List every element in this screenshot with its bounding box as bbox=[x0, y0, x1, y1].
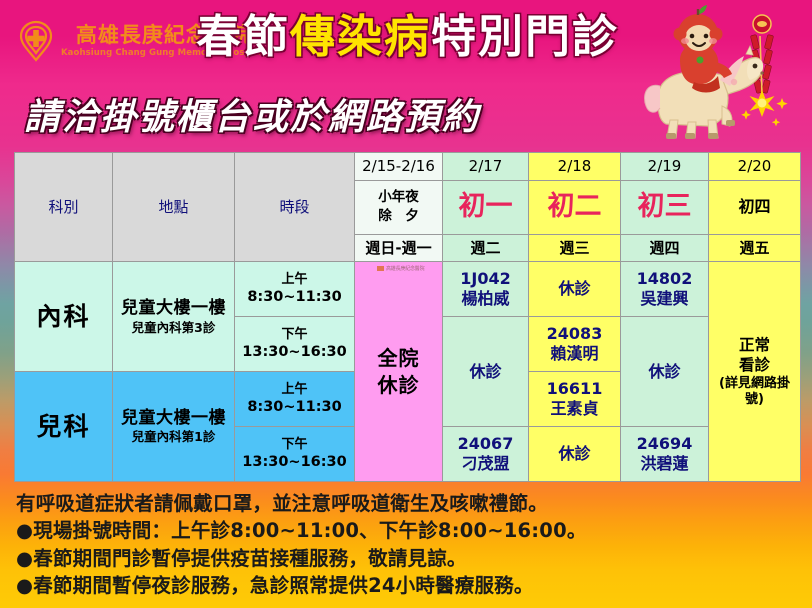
doctor-name: 刁茂盟 bbox=[445, 454, 526, 474]
closed-all-cell: 高雄長庚紀念醫院 全院 休診 bbox=[355, 262, 443, 482]
page-header: 高雄長庚紀念醫院 Kaohsiung Chang Gung Memorial H… bbox=[0, 0, 812, 145]
timeslot-time-internal-pm: 13:30~16:30 bbox=[237, 343, 352, 361]
doctor-id: 24083 bbox=[531, 324, 618, 344]
doctor-id: 24067 bbox=[445, 434, 526, 454]
timeslot-period-internal-am: 上午 bbox=[237, 272, 352, 288]
table-row: 內科 兒童大樓一樓 兒童內科第3診 上午 8:30~11:30 高雄長庚紀念醫院… bbox=[15, 262, 801, 317]
lunar-eve-line2: 除 夕 bbox=[357, 207, 440, 227]
timeslot-period-pediatrics-pm: 下午 bbox=[237, 437, 352, 453]
lunar-header-2: 初二 bbox=[529, 180, 621, 234]
closed-all-line2: 休診 bbox=[357, 372, 440, 399]
table-header-row-dates: 科別 地點 時段 2/15-2/16 2/17 2/18 2/19 2/20 bbox=[15, 153, 801, 181]
lunar-label-3: 初三 bbox=[638, 191, 692, 222]
hospital-watermark-icon: 高雄長庚紀念醫院 bbox=[377, 266, 424, 272]
timeslot-cell-pediatrics-pm: 下午 13:30~16:30 bbox=[235, 427, 355, 482]
timeslot-time-internal-am: 8:30~11:30 bbox=[237, 288, 352, 306]
dept-name-internal: 內科 bbox=[36, 302, 90, 331]
location-main-internal: 兒童大樓一樓 bbox=[115, 298, 232, 319]
lunar-header-1: 初一 bbox=[443, 180, 529, 234]
date-header-3: 2/19 bbox=[621, 153, 709, 181]
location-cell-pediatrics: 兒童大樓一樓 兒童內科第1診 bbox=[113, 372, 235, 482]
closed-all-line1: 全院 bbox=[357, 345, 440, 372]
location-main-pediatrics: 兒童大樓一樓 bbox=[115, 408, 232, 429]
page-subtitle: 請洽掛號櫃台或於網路預約 bbox=[24, 88, 480, 140]
title-highlight: 傳染病 bbox=[290, 10, 431, 63]
cell-217-merged-closed: 休診 bbox=[443, 317, 529, 427]
lunar-eve-line1: 小年夜 bbox=[357, 188, 440, 208]
doctor-name: 賴漢明 bbox=[531, 344, 618, 364]
timeslot-period-pediatrics-am: 上午 bbox=[237, 382, 352, 398]
note-line-1: ●現場掛號時間：上午診8:00~11:00、下午診8:00~16:00。 bbox=[16, 517, 806, 544]
title-part-2: 特別門診 bbox=[431, 10, 619, 63]
weekday-label-4: 週五 bbox=[739, 239, 769, 257]
cross-flower-logo-icon bbox=[16, 19, 56, 63]
cell-219-pediatrics-pm: 24694 洪碧蓮 bbox=[621, 427, 709, 482]
dept-cell-internal: 內科 bbox=[15, 262, 113, 372]
title-part-1: 春節 bbox=[196, 10, 290, 63]
cell-218-pediatrics-pm: 休診 bbox=[529, 427, 621, 482]
normal-line1: 正常 bbox=[711, 335, 798, 355]
date-label-0: 2/15-2/16 bbox=[362, 157, 435, 175]
closed-label: 休診 bbox=[558, 279, 590, 298]
doctor-id: 16611 bbox=[531, 379, 618, 399]
cell-217-pediatrics-pm: 24067 刁茂盟 bbox=[443, 427, 529, 482]
date-label-2: 2/18 bbox=[558, 157, 592, 175]
weekday-header-1: 週二 bbox=[443, 234, 529, 262]
date-header-0: 2/15-2/16 bbox=[355, 153, 443, 181]
timeslot-time-pediatrics-pm: 13:30~16:30 bbox=[237, 453, 352, 471]
cell-217-internal-am: 1J042 楊柏威 bbox=[443, 262, 529, 317]
location-sub-internal: 兒童內科第3診 bbox=[115, 320, 232, 336]
lunar-header-0: 小年夜 除 夕 bbox=[355, 180, 443, 234]
normal-line3: (詳見網路掛號) bbox=[711, 376, 798, 409]
closed-label: 休診 bbox=[648, 362, 680, 381]
location-sub-pediatrics: 兒童內科第1診 bbox=[115, 429, 232, 445]
col-header-timeslot: 時段 bbox=[235, 153, 355, 262]
normal-line2: 看診 bbox=[711, 355, 798, 375]
timeslot-cell-internal-pm: 下午 13:30~16:30 bbox=[235, 317, 355, 372]
timeslot-cell-internal-am: 上午 8:30~11:30 bbox=[235, 262, 355, 317]
doctor-name: 洪碧蓮 bbox=[623, 454, 706, 474]
cell-220-normal: 正常 看診 (詳見網路掛號) bbox=[709, 262, 801, 482]
cell-218-internal-pm: 24083 賴漢明 bbox=[529, 317, 621, 372]
lunar-label-1: 初一 bbox=[459, 191, 513, 222]
closed-label: 休診 bbox=[469, 362, 501, 381]
cell-219-internal-am: 14802 吳建興 bbox=[621, 262, 709, 317]
note-line-2: ●春節期間門診暫停提供疫苗接種服務，敬請見諒。 bbox=[16, 545, 806, 572]
location-cell-internal: 兒童大樓一樓 兒童內科第3診 bbox=[113, 262, 235, 372]
cell-219-merged-closed: 休診 bbox=[621, 317, 709, 427]
col-header-dept-label: 科別 bbox=[48, 198, 78, 216]
lunar-header-3: 初三 bbox=[621, 180, 709, 234]
note-line-0: 有呼吸道症狀者請佩戴口罩，並注意呼吸道衛生及咳嗽禮節。 bbox=[16, 490, 806, 517]
weekday-label-2: 週三 bbox=[559, 239, 589, 257]
monkey-riding-horse-mascot-icon bbox=[636, 2, 806, 142]
hospital-watermark-text: 高雄長庚紀念醫院 bbox=[386, 266, 424, 272]
doctor-name: 吳建興 bbox=[623, 289, 706, 309]
weekday-label-3: 週四 bbox=[649, 239, 679, 257]
page-title: 春節傳染病特別門診 bbox=[196, 13, 619, 62]
doctor-id: 14802 bbox=[623, 269, 706, 289]
doctor-name: 王素貞 bbox=[531, 399, 618, 419]
doctor-id: 1J042 bbox=[445, 269, 526, 289]
doctor-name: 楊柏威 bbox=[445, 289, 526, 309]
weekday-header-0: 週日-週一 bbox=[355, 234, 443, 262]
hospital-logo: 高雄長庚紀念醫院 Kaohsiung Chang Gung Memorial H… bbox=[16, 10, 192, 72]
col-header-dept: 科別 bbox=[15, 153, 113, 262]
date-header-4: 2/20 bbox=[709, 153, 801, 181]
note-line-3: ●春節期間暫停夜診服務，急診照常提供24小時醫療服務。 bbox=[16, 572, 806, 599]
weekday-header-2: 週三 bbox=[529, 234, 621, 262]
closed-label: 休診 bbox=[558, 444, 590, 463]
date-header-1: 2/17 bbox=[443, 153, 529, 181]
doctor-id: 24694 bbox=[623, 434, 706, 454]
clinic-schedule-table: 科別 地點 時段 2/15-2/16 2/17 2/18 2/19 2/20 小… bbox=[14, 152, 801, 482]
dept-cell-pediatrics: 兒科 bbox=[15, 372, 113, 482]
cell-218-pediatrics-am: 16611 王素貞 bbox=[529, 372, 621, 427]
date-label-3: 2/19 bbox=[648, 157, 682, 175]
footer-notes: 有呼吸道症狀者請佩戴口罩，並注意呼吸道衛生及咳嗽禮節。 ●現場掛號時間：上午診8… bbox=[16, 490, 806, 600]
timeslot-period-internal-pm: 下午 bbox=[237, 327, 352, 343]
date-label-1: 2/17 bbox=[469, 157, 503, 175]
lunar-header-4: 初四 bbox=[709, 180, 801, 234]
timeslot-cell-pediatrics-am: 上午 8:30~11:30 bbox=[235, 372, 355, 427]
col-header-timeslot-label: 時段 bbox=[279, 198, 309, 216]
lunar-label-4: 初四 bbox=[738, 197, 770, 216]
lunar-label-2: 初二 bbox=[548, 191, 602, 222]
cell-218-internal-am: 休診 bbox=[529, 262, 621, 317]
dept-name-pediatrics: 兒科 bbox=[36, 412, 90, 441]
weekday-header-3: 週四 bbox=[621, 234, 709, 262]
weekday-header-4: 週五 bbox=[709, 234, 801, 262]
timeslot-time-pediatrics-am: 8:30~11:30 bbox=[237, 398, 352, 416]
date-label-4: 2/20 bbox=[738, 157, 772, 175]
date-header-2: 2/18 bbox=[529, 153, 621, 181]
clinic-schedule-table-wrap: 科別 地點 時段 2/15-2/16 2/17 2/18 2/19 2/20 小… bbox=[14, 152, 800, 482]
weekday-label-0: 週日-週一 bbox=[365, 239, 431, 257]
col-header-location: 地點 bbox=[113, 153, 235, 262]
col-header-location-label: 地點 bbox=[158, 198, 188, 216]
weekday-label-1: 週二 bbox=[470, 239, 500, 257]
